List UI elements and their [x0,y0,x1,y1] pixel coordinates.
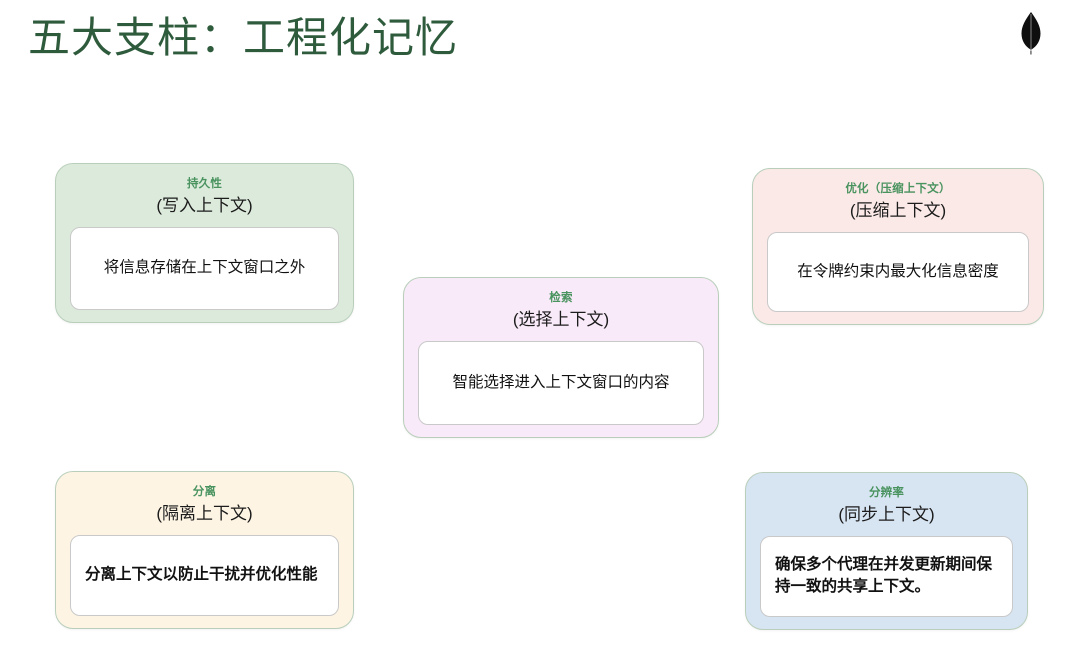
pillar-body-text: 将信息存储在上下文窗口之外 [85,257,324,279]
pillar-eyebrow: 持久性 [70,178,339,192]
pillar-card-isolation[interactable]: 分离 (隔离上下文) 分离上下文以防止干扰并优化性能 [55,471,354,629]
pillar-body-text: 分离上下文以防止干扰并优化性能 [85,564,324,586]
pillar-subtitle: (隔离上下文) [70,503,339,525]
pillar-card-optimization[interactable]: 优化（压缩上下文） (压缩上下文) 在令牌约束内最大化信息密度 [752,168,1044,325]
pillar-body-box: 分离上下文以防止干扰并优化性能 [70,535,339,616]
pillar-eyebrow: 分辨率 [760,487,1013,501]
pillar-body-box: 确保多个代理在并发更新期间保持一致的共享上下文。 [760,536,1013,617]
pillar-eyebrow: 检索 [418,292,704,306]
pillar-subtitle: (选择上下文) [418,309,704,331]
pillar-eyebrow: 分离 [70,486,339,500]
pillar-body-box: 在令牌约束内最大化信息密度 [767,232,1029,312]
pillar-eyebrow: 优化（压缩上下文） [767,183,1029,197]
pillar-card-resolution[interactable]: 分辨率 (同步上下文) 确保多个代理在并发更新期间保持一致的共享上下文。 [745,472,1028,630]
pillar-body-text: 智能选择进入上下文窗口的内容 [433,372,689,394]
pillar-body-box: 将信息存储在上下文窗口之外 [70,227,339,310]
pillar-body-text: 在令牌约束内最大化信息密度 [782,261,1014,283]
pillar-subtitle: (写入上下文) [70,195,339,217]
pillar-body-text: 确保多个代理在并发更新期间保持一致的共享上下文。 [775,554,998,599]
pillar-body-box: 智能选择进入上下文窗口的内容 [418,341,704,425]
page-title: 五大支柱：工程化记忆 [28,12,458,65]
mongodb-leaf-logo [1010,10,1052,56]
pillar-card-retrieval[interactable]: 检索 (选择上下文) 智能选择进入上下文窗口的内容 [403,277,719,438]
pillar-subtitle: (压缩上下文) [767,200,1029,222]
pillar-subtitle: (同步上下文) [760,504,1013,526]
pillar-card-persistence[interactable]: 持久性 (写入上下文) 将信息存储在上下文窗口之外 [55,163,354,323]
